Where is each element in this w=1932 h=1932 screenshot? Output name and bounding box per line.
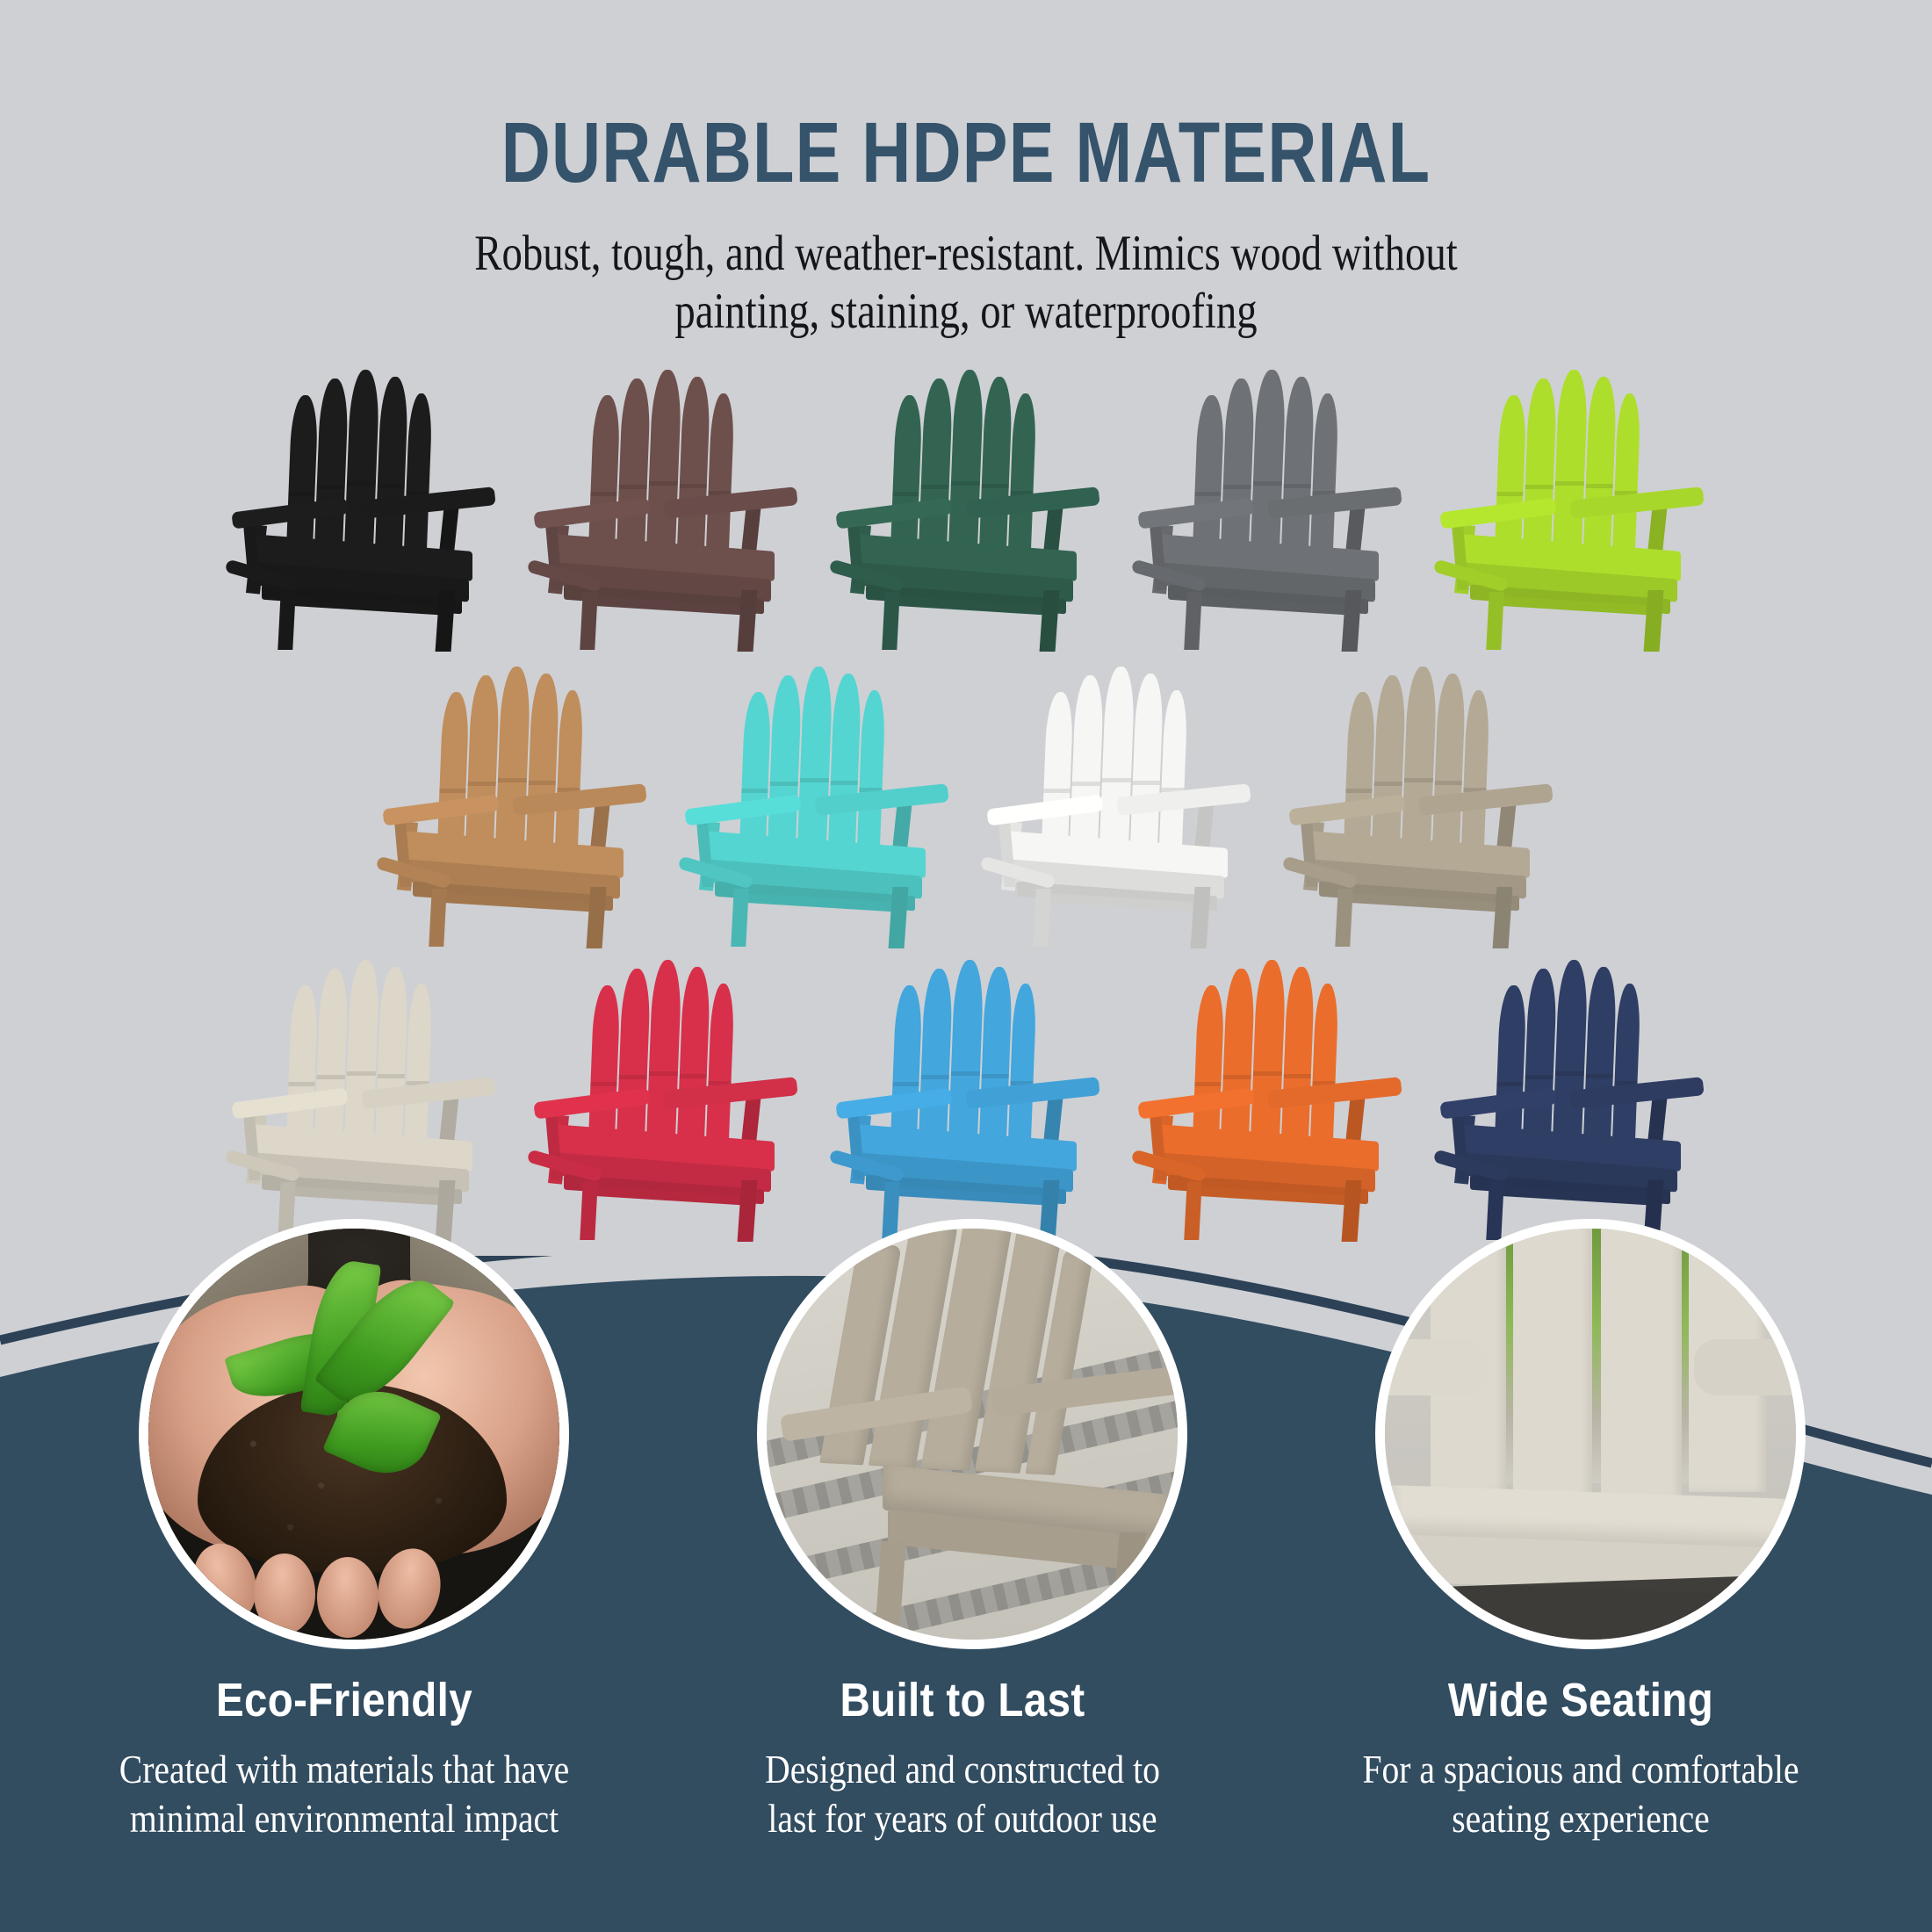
back-slat [797, 667, 833, 859]
chair-leg-left [1486, 592, 1503, 650]
chair-backrest [1494, 952, 1640, 1152]
chair-leg-left [278, 592, 295, 650]
page-title: DURABLE HDPE MATERIAL [193, 0, 1739, 202]
chair-leg-right [738, 1180, 758, 1242]
chair-backrest [1192, 952, 1338, 1152]
back-slat [1601, 1219, 1682, 1503]
back-slat [1158, 690, 1187, 859]
chair-swatch-dark-green[interactable] [834, 362, 1098, 652]
photo-chair-seat-closeup [1385, 1229, 1796, 1640]
feature-description: For a spacious and comfortable seating e… [1333, 1745, 1827, 1844]
chair-leg-right [436, 590, 456, 652]
chair-swatch-brown[interactable] [532, 362, 796, 652]
chair-leg-left [731, 889, 748, 947]
chair-backrest [890, 362, 1036, 562]
chair-armrest-left [1375, 1339, 1487, 1395]
back-slat [403, 984, 432, 1152]
chair-leg-left [429, 889, 446, 947]
back-slat [1522, 378, 1557, 562]
feature-description: Designed and constructed to last for yea… [715, 1745, 1209, 1844]
chair-swatch-teak[interactable] [381, 659, 645, 948]
finger [317, 1557, 378, 1638]
back-slat [465, 675, 500, 859]
chair-backrest [890, 952, 1036, 1152]
back-slat [645, 960, 681, 1152]
page-subtitle: Robust, tough, and weather-resistant. Mi… [174, 202, 1758, 341]
chair-swatch-navy[interactable] [1438, 952, 1702, 1242]
chair-leg-right [1191, 887, 1211, 948]
chair-swatch-black[interactable] [230, 362, 494, 652]
feature-title: Eco-Friendly [97, 1673, 591, 1727]
chair-leg-left [580, 1182, 597, 1240]
chair-backrest [819, 1219, 1099, 1475]
chair-swatch-light-blue[interactable] [834, 952, 1098, 1242]
back-slat [1007, 393, 1036, 562]
back-slat [1220, 969, 1255, 1152]
back-slat [616, 378, 651, 562]
chair-leg-right [1342, 1180, 1362, 1242]
ground-shadow [1438, 1576, 1745, 1649]
back-slat [1250, 370, 1286, 562]
back-slat [616, 969, 651, 1152]
chair-armrest-right [1694, 1339, 1806, 1395]
back-slat [1611, 984, 1640, 1152]
chair-backrest [285, 952, 432, 1152]
feature-photo-wide-seating [1375, 1219, 1806, 1649]
chair-swatch-ivory[interactable] [230, 952, 494, 1242]
chair-leg-left [1184, 1182, 1201, 1240]
chair-leg-left [882, 592, 899, 650]
back-slat [918, 969, 953, 1152]
back-slat [948, 960, 984, 1152]
back-slat [1513, 1219, 1592, 1503]
finger [254, 1554, 315, 1634]
chair-swatch-white[interactable] [985, 659, 1249, 948]
back-slat [1069, 675, 1104, 859]
infographic-canvas: DURABLE HDPE MATERIAL Robust, tough, and… [0, 0, 1932, 1932]
back-slat [1007, 984, 1036, 1152]
back-slat [314, 969, 349, 1152]
chair-leg-right [587, 887, 607, 948]
feature-photo-eco-friendly [139, 1219, 569, 1649]
back-slat [1552, 960, 1588, 1152]
back-slat [343, 370, 379, 562]
back-slat [1611, 393, 1640, 562]
feature-block-wide-seating: Wide Seating For a spacious and comforta… [1300, 1673, 1862, 1844]
chair-swatch-red[interactable] [532, 952, 796, 1242]
feature-title: Wide Seating [1333, 1673, 1827, 1727]
header: DURABLE HDPE MATERIAL Robust, tough, and… [0, 0, 1932, 341]
chair-backrest [1041, 659, 1187, 859]
chair-backrest [739, 659, 885, 859]
back-slat [1099, 667, 1135, 859]
back-slat [1371, 675, 1406, 859]
back-slat [494, 667, 530, 859]
chair-leg-right [1342, 590, 1362, 652]
back-slat [918, 378, 953, 562]
feature-description: Created with materials that have minimal… [97, 1745, 591, 1844]
back-slat [705, 393, 734, 562]
back-slat [948, 370, 984, 562]
feature-block-built-to-last: Built to Last Designed and constructed t… [681, 1673, 1244, 1844]
chair-swatch-orange[interactable] [1136, 952, 1400, 1242]
chair-backrest [436, 659, 583, 859]
chair-leg-right [1040, 590, 1060, 652]
back-slat [314, 378, 349, 562]
back-slat [1309, 393, 1338, 562]
chair-backrest [1192, 362, 1338, 562]
chair-backrest [588, 952, 734, 1152]
chair-leg-right [738, 590, 758, 652]
back-slat [343, 960, 379, 1152]
chair-leg-left [1335, 889, 1352, 947]
chair-leg-right [1644, 590, 1664, 652]
back-slat [705, 984, 734, 1152]
back-slat [645, 370, 681, 562]
chair-swatch-gray[interactable] [1136, 362, 1400, 652]
back-slat [554, 690, 583, 859]
chair-backrest [285, 362, 432, 562]
photo-hands-soil-seedling [148, 1229, 559, 1640]
chair-leg-left [1184, 592, 1201, 650]
back-slat [1460, 690, 1489, 859]
feature-photo-built-to-last [757, 1219, 1187, 1649]
chair-backrest [588, 362, 734, 562]
chair-leg-right [1493, 887, 1513, 948]
back-slat [403, 393, 432, 562]
chair-backrest [1494, 362, 1640, 562]
back-slat [1401, 667, 1437, 859]
feature-title: Built to Last [715, 1673, 1209, 1727]
chair-leg-left [1033, 889, 1050, 947]
back-slat [1552, 370, 1588, 562]
back-slat [767, 675, 802, 859]
chair-backrest [1343, 659, 1489, 859]
back-slat [1250, 960, 1286, 1152]
chair-swatch-taupe[interactable] [1287, 659, 1551, 948]
back-slat [1220, 378, 1255, 562]
chair-swatch-lime-green[interactable] [1438, 362, 1702, 652]
chair-leg-right [889, 887, 909, 948]
chair-swatch-turquoise[interactable] [683, 659, 947, 948]
photo-chair-on-patio [767, 1229, 1178, 1640]
back-slat [856, 690, 885, 859]
back-slat [1309, 984, 1338, 1152]
chair-leg-left [580, 592, 597, 650]
feature-block-eco-friendly: Eco-Friendly Created with materials that… [63, 1673, 625, 1844]
back-slat [1522, 969, 1557, 1152]
